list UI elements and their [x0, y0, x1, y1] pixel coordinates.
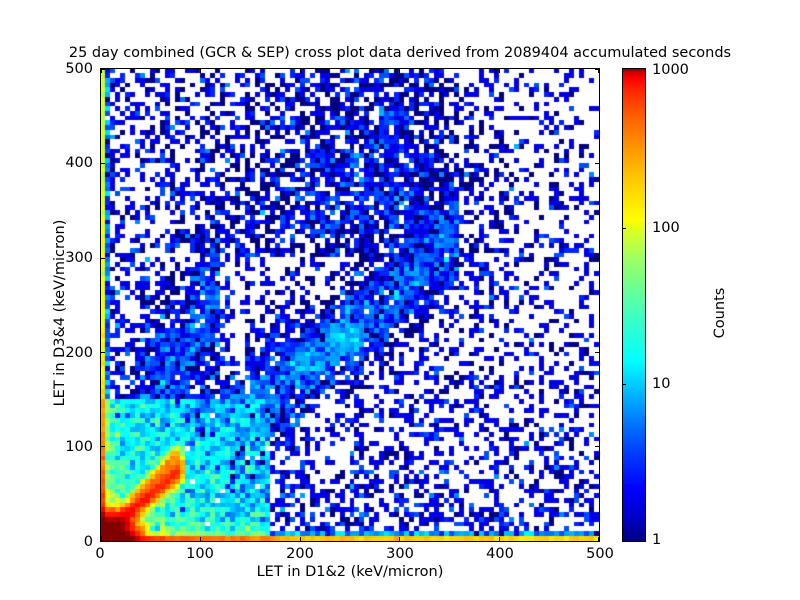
ytick-100 [101, 446, 105, 447]
yticklabel-500: 500 [65, 61, 93, 77]
cbticklabel-1: 1 [652, 532, 661, 548]
ytick-200 [101, 352, 105, 353]
xtick-top-100 [200, 69, 201, 73]
yticklabel-0: 0 [84, 534, 93, 550]
xtick-200 [300, 537, 301, 541]
cbticklabel-10: 10 [652, 376, 670, 392]
cbticklabel-1000: 1000 [652, 62, 689, 78]
cbtick-10 [622, 384, 626, 385]
x-axis-label: LET in D1&2 (keV/micron) [100, 564, 600, 580]
xtick-top-300 [399, 69, 400, 73]
ytick-right-300 [595, 258, 599, 259]
ytick-300 [101, 258, 105, 259]
xticklabel-500: 500 [586, 546, 614, 562]
xtick-400 [499, 537, 500, 541]
cbticklabel-100: 100 [652, 220, 680, 236]
yticklabel-100: 100 [65, 439, 93, 455]
cbtick-1000 [622, 68, 626, 69]
cbtick-100 [622, 228, 626, 229]
xtick-300 [399, 537, 400, 541]
colorbar[interactable] [622, 68, 646, 542]
heatmap-data-layer [101, 69, 599, 541]
xticklabel-100: 100 [186, 546, 214, 562]
yticklabel-200: 200 [65, 345, 93, 361]
figure-canvas: 25 day combined (GCR & SEP) cross plot d… [0, 0, 800, 600]
ytick-right-500 [595, 69, 599, 70]
ytick-0 [101, 541, 105, 542]
xtick-100 [200, 537, 201, 541]
xticklabel-400: 400 [486, 546, 514, 562]
ytick-400 [101, 163, 105, 164]
colorbar-gradient [622, 68, 646, 542]
xtick-top-400 [499, 69, 500, 73]
xticklabel-0: 0 [95, 546, 104, 562]
cbtick-1 [622, 541, 626, 542]
plot-area[interactable] [100, 68, 600, 542]
y-axis-label: LET in D3&4 (keV/micron) [52, 163, 68, 463]
ytick-right-200 [595, 352, 599, 353]
xticklabel-300: 300 [386, 546, 414, 562]
ytick-right-400 [595, 163, 599, 164]
ytick-right-0 [595, 541, 599, 542]
xtick-top-200 [300, 69, 301, 73]
ytick-right-100 [595, 446, 599, 447]
yticklabel-300: 300 [65, 250, 93, 266]
ytick-500 [101, 69, 105, 70]
title-line-1: 25 day combined (GCR & SEP) cross plot d… [0, 44, 800, 63]
colorbar-label: Counts [712, 203, 728, 423]
yticklabel-400: 400 [65, 155, 93, 171]
xticklabel-200: 200 [286, 546, 314, 562]
